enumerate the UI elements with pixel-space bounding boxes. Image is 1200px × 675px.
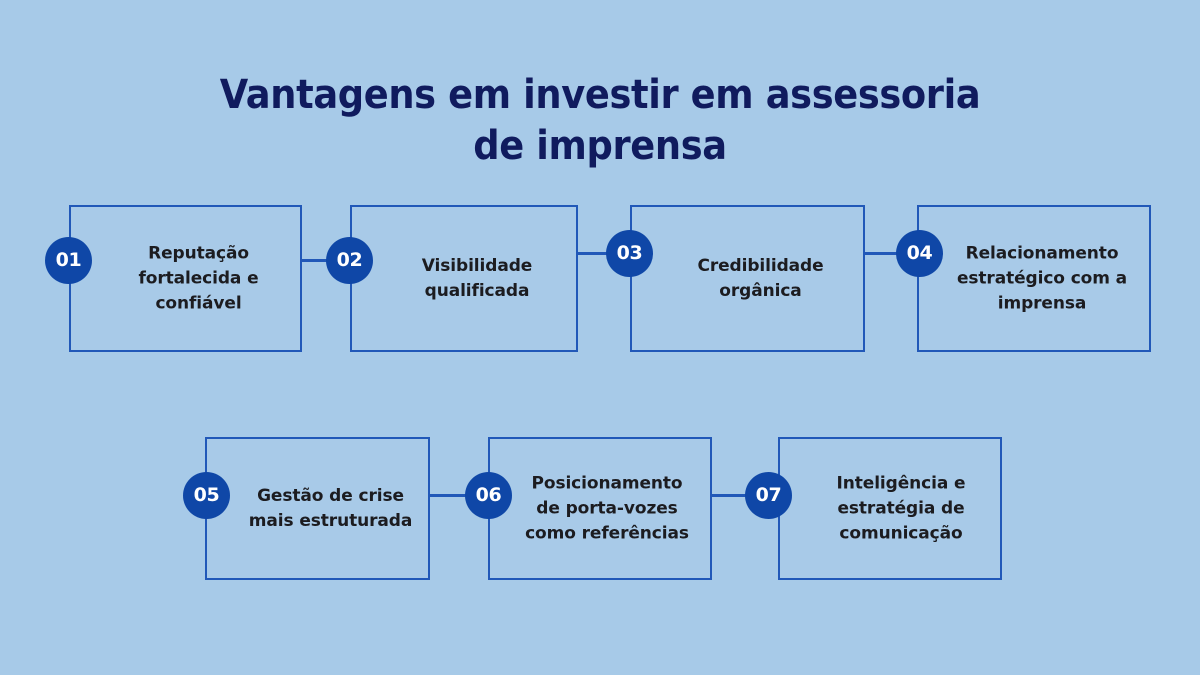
step-card-04[interactable]: Relacionamento estratégico com a imprens… [917,205,1151,352]
page-title: Vantagens em investir em assessoria de i… [204,70,995,172]
infographic-canvas: Vantagens em investir em assessoria de i… [0,0,1200,675]
step-card-04-label: Relacionamento estratégico com a imprens… [947,241,1137,316]
step-card-03[interactable]: Credibilidade orgânica [630,205,865,352]
step-card-01[interactable]: Reputação fortalecida e confiável [69,205,302,352]
step-row-1: Reputação fortalecida e confiável Visibi… [0,205,1200,352]
step-card-07[interactable]: Inteligência e estratégia de comunicação [778,437,1002,580]
connector-05-to-06 [428,494,469,497]
step-badge-01[interactable]: 01 [45,237,92,284]
step-card-02-label: Visibilidade qualificada [392,254,562,304]
step-card-06-label: Posicionamento de porta-vozes como refer… [518,471,696,546]
connector-03-to-04 [863,252,900,255]
connector-02-to-03 [576,252,610,255]
step-card-05-label: Gestão de crise mais estruturada [241,484,420,534]
step-badge-04[interactable]: 04 [896,230,943,277]
step-badge-02[interactable]: 02 [326,237,373,284]
step-card-07-label: Inteligência e estratégia de comunicação [816,471,986,546]
step-badge-05[interactable]: 05 [183,472,230,519]
step-card-05[interactable]: Gestão de crise mais estruturada [205,437,430,580]
step-card-02[interactable]: Visibilidade qualificada [350,205,578,352]
step-card-01-label: Reputação fortalecida e confiável [105,241,292,316]
step-card-03-label: Credibilidade orgânica [672,254,849,304]
step-badge-07[interactable]: 07 [745,472,792,519]
step-badge-06[interactable]: 06 [465,472,512,519]
connector-06-to-07 [710,494,749,497]
step-badge-03[interactable]: 03 [606,230,653,277]
step-card-06[interactable]: Posicionamento de porta-vozes como refer… [488,437,712,580]
step-row-2: Gestão de crise mais estruturada Posicio… [0,437,1200,580]
